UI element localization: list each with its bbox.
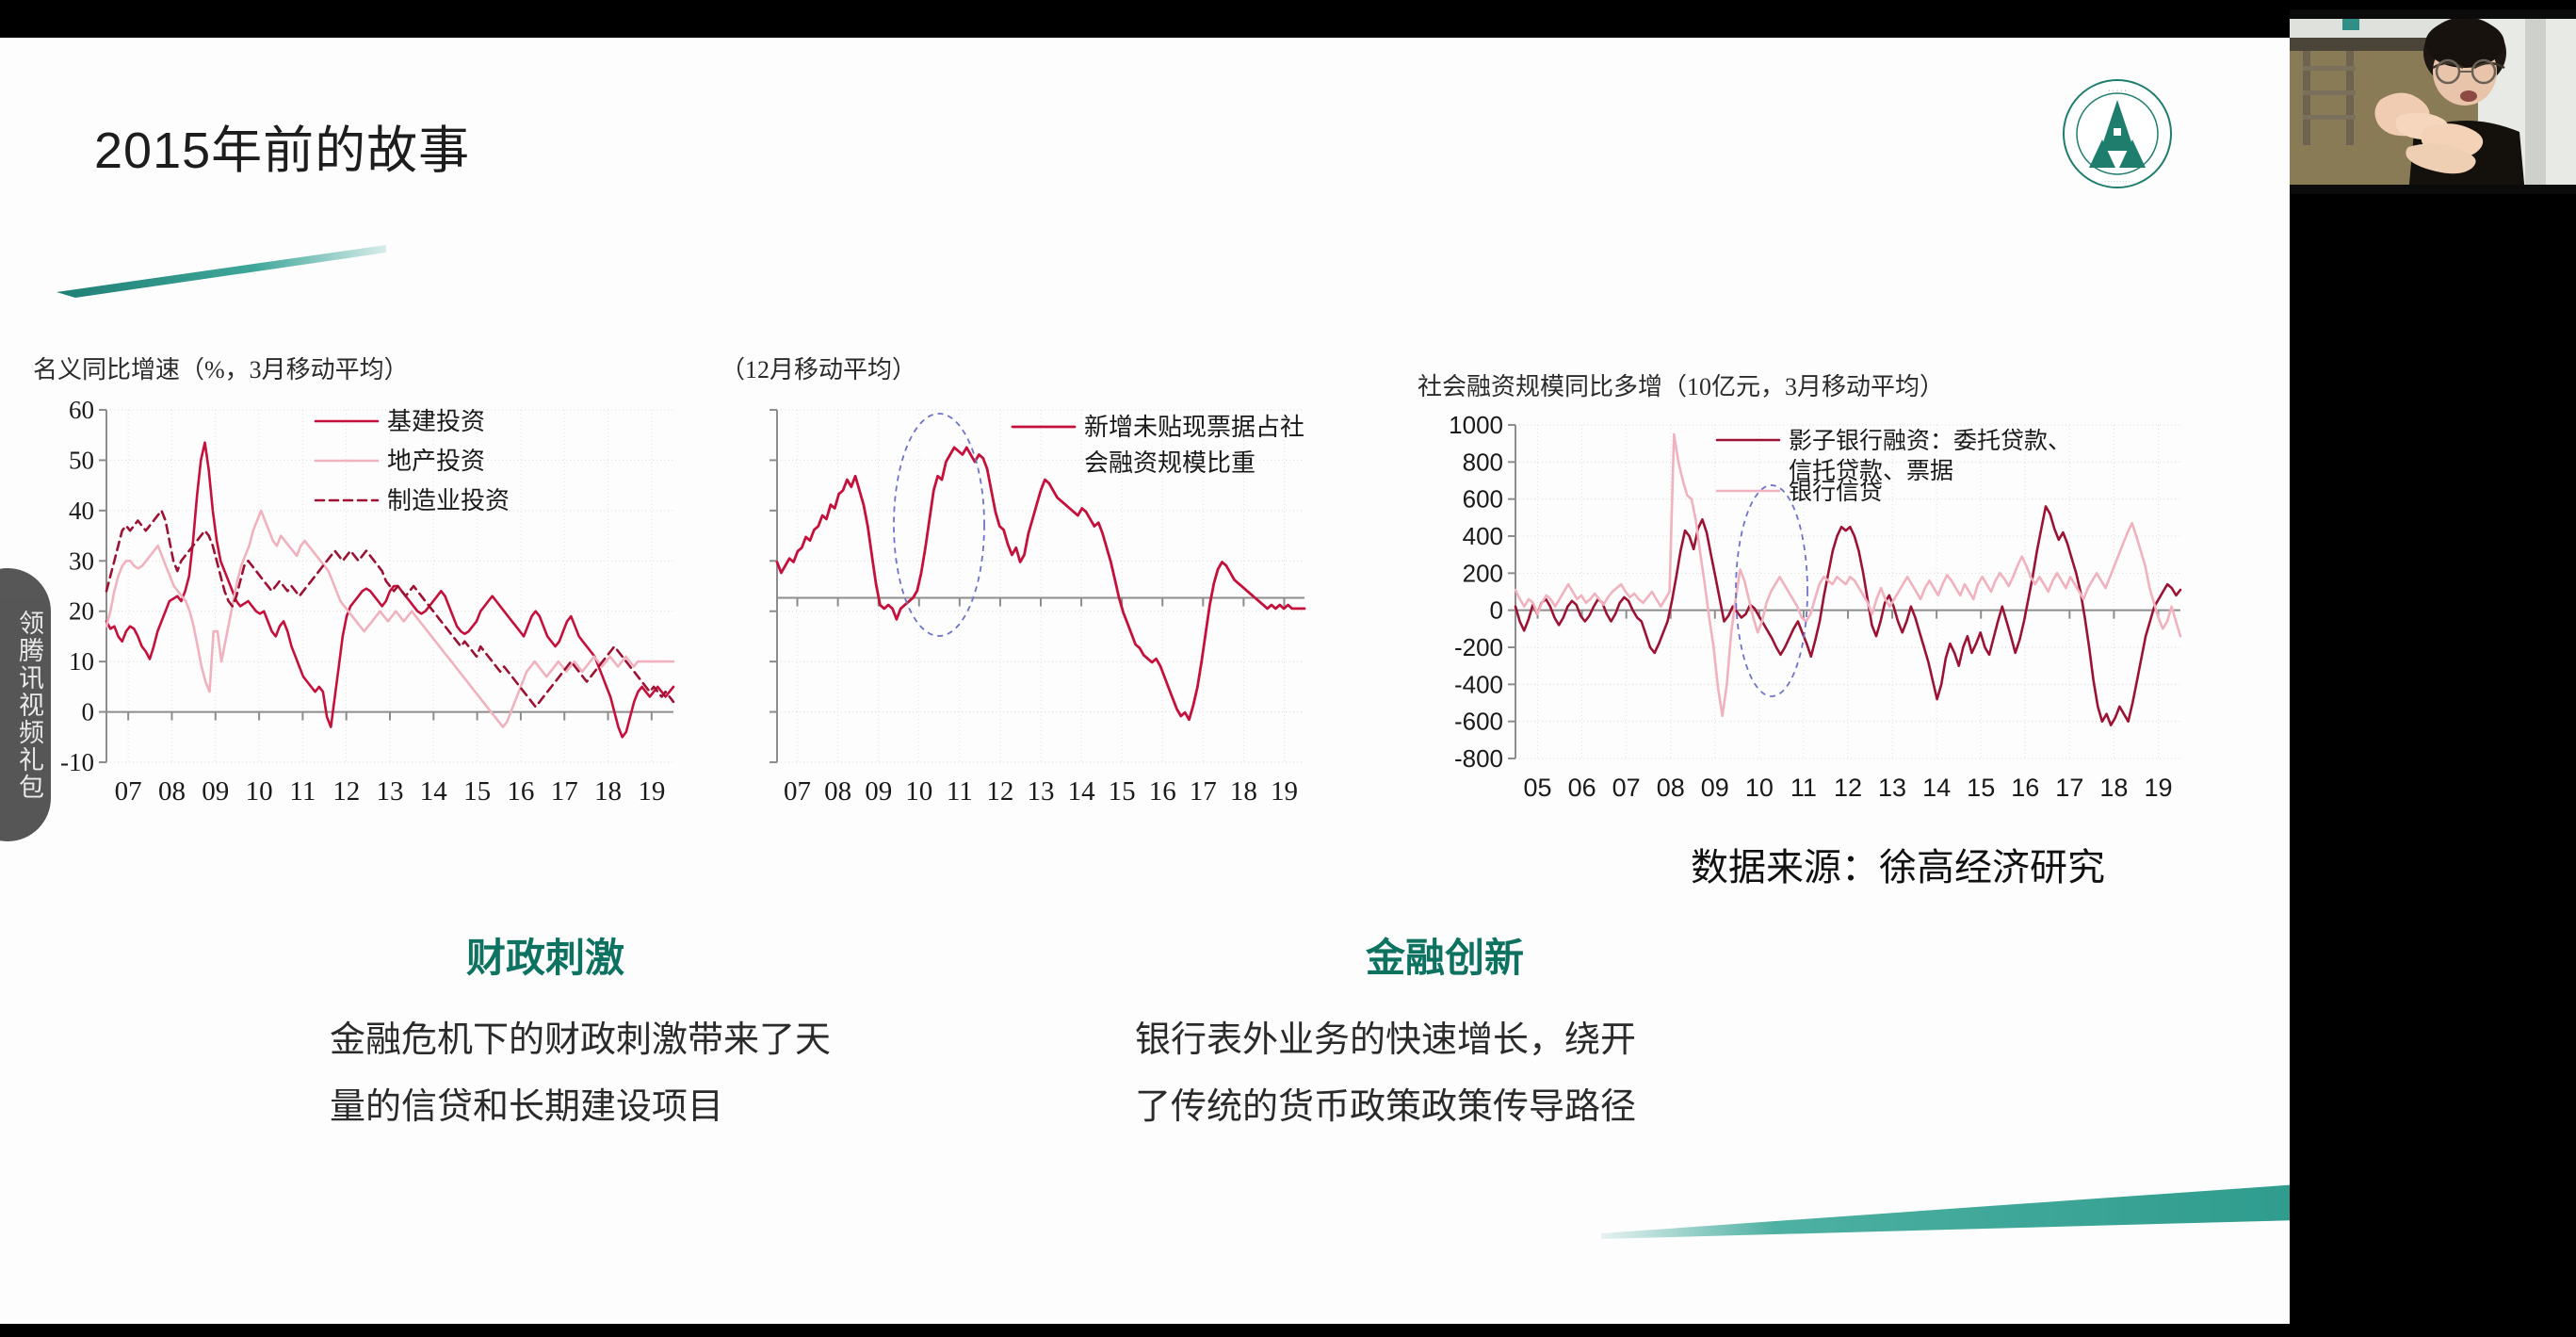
svg-text:16: 16: [2011, 774, 2039, 802]
chart3-plot: 10008006004002000-200-400-600-8000506070…: [1418, 402, 2199, 845]
svg-text:17: 17: [551, 776, 578, 807]
chart2-title: （12月移动平均）: [721, 351, 1323, 385]
column-body-line: 金融危机下的财政刺激带来了天: [330, 1018, 1064, 1064]
svg-text:12: 12: [1834, 774, 1862, 802]
svg-text:14: 14: [420, 776, 448, 807]
svg-text:17: 17: [2055, 774, 2083, 802]
svg-text:0: 0: [1490, 596, 1503, 625]
page-title: 2015年前的故事: [94, 108, 470, 183]
chart-investment-growth: 名义同比增速（%，3月移动平均） 6050403020100-100708091…: [33, 351, 692, 856]
svg-text:0: 0: [82, 698, 95, 726]
svg-text:15: 15: [463, 776, 491, 807]
column-heading-fiscal-stimulus: 财政刺激: [466, 926, 624, 984]
svg-text:09: 09: [202, 776, 229, 807]
svg-text:12: 12: [986, 776, 1013, 807]
svg-text:19: 19: [638, 776, 665, 807]
svg-text:基建投资: 基建投资: [387, 408, 485, 435]
svg-text:17: 17: [1190, 776, 1217, 807]
column-heading-financial-innovation: 金融创新: [1366, 926, 1524, 984]
svg-text:19: 19: [1271, 776, 1298, 807]
svg-text:10: 10: [905, 776, 932, 807]
svg-text:13: 13: [1878, 774, 1906, 802]
svg-text:07: 07: [1612, 774, 1641, 802]
svg-text:· · · · · · · · ·: · · · · · · · · ·: [2105, 179, 2130, 185]
svg-text:15: 15: [1967, 774, 1995, 802]
svg-text:13: 13: [377, 776, 404, 807]
decorative-wedge-bottom-right: [1601, 1164, 2290, 1286]
presentation-slide: 2015年前的故事 · · · · · · · · · · · · · · 名义…: [0, 19, 2290, 1324]
column-body-line: 量的信贷和长期建设项目: [330, 1084, 1064, 1131]
svg-text:16: 16: [507, 776, 534, 807]
column-body-financial-innovation: 银行表外业务的快速增长，绕开 了传统的货币政策政策传导路径: [1135, 1018, 1870, 1152]
svg-text:11: 11: [1790, 774, 1817, 802]
svg-text:11: 11: [289, 776, 316, 807]
university-emblem-icon: · · · · · · · · · · · · · ·: [2061, 77, 2174, 190]
svg-text:-600: -600: [1454, 708, 1503, 736]
svg-text:07: 07: [115, 776, 142, 807]
svg-text:-200: -200: [1454, 633, 1503, 661]
svg-text:12: 12: [332, 776, 360, 807]
svg-text:800: 800: [1463, 448, 1503, 476]
svg-text:19: 19: [2144, 774, 2172, 802]
svg-text:制造业投资: 制造业投资: [387, 487, 510, 514]
column-body-line: 银行表外业务的快速增长，绕开: [1135, 1018, 1870, 1064]
svg-text:-10: -10: [60, 748, 94, 776]
chart3-title: 社会融资规模同比多增（10亿元，3月移动平均）: [1418, 367, 2199, 402]
svg-text:18: 18: [594, 776, 622, 807]
data-source-note: 数据来源：徐高经济研究: [1691, 837, 2105, 891]
svg-text:09: 09: [1701, 774, 1729, 802]
decorative-wedge-top-left: [57, 243, 386, 300]
svg-text:200: 200: [1463, 559, 1503, 587]
column-body-fiscal-stimulus: 金融危机下的财政刺激带来了天 量的信贷和长期建设项目: [330, 1018, 1064, 1152]
chart-tsf-yoy-increase: 社会融资规模同比多增（10亿元，3月移动平均） 1000800600400200…: [1418, 367, 2199, 845]
webcam-video-panel[interactable]: [2290, 9, 2576, 194]
svg-text:08: 08: [158, 776, 186, 807]
svg-text:14: 14: [1922, 774, 1951, 802]
svg-text:1000: 1000: [1449, 411, 1503, 439]
svg-text:400: 400: [1463, 522, 1503, 550]
svg-text:08: 08: [824, 776, 851, 807]
svg-text:13: 13: [1028, 776, 1055, 807]
svg-text:09: 09: [865, 776, 892, 807]
svg-text:-800: -800: [1454, 744, 1503, 773]
top-letterbox-bar: [0, 19, 2290, 38]
svg-text:10: 10: [1745, 774, 1774, 802]
svg-text:08: 08: [1657, 774, 1685, 802]
svg-text:11: 11: [947, 776, 973, 807]
svg-text:会融资规模比重: 会融资规模比重: [1084, 449, 1256, 477]
svg-text:50: 50: [69, 446, 94, 474]
svg-text:18: 18: [2099, 774, 2128, 802]
svg-text:40: 40: [69, 497, 94, 525]
promo-pill-label: 领腾讯视频礼包: [16, 610, 51, 801]
svg-text:16: 16: [1149, 776, 1176, 807]
svg-text:-400: -400: [1454, 670, 1503, 698]
chart1-title: 名义同比增速（%，3月移动平均）: [33, 351, 692, 385]
right-black-panel: [2290, 0, 2576, 1337]
svg-text:20: 20: [69, 597, 94, 626]
svg-text:新增未贴现票据占社: 新增未贴现票据占社: [1084, 414, 1304, 441]
svg-text:18: 18: [1230, 776, 1257, 807]
svg-text:14: 14: [1068, 776, 1096, 807]
svg-text:06: 06: [1568, 774, 1596, 802]
promo-pill-overlay[interactable]: 领腾讯视频礼包: [0, 568, 51, 841]
svg-text:07: 07: [784, 776, 811, 807]
svg-text:60: 60: [69, 396, 94, 424]
svg-text:30: 30: [69, 546, 94, 575]
screen-recording-frame: 2015年前的故事 · · · · · · · · · · · · · · 名义…: [0, 0, 2576, 1337]
svg-text:地产投资: 地产投资: [387, 448, 485, 475]
svg-text:10: 10: [69, 647, 94, 676]
chart-undiscounted-bills-share: （12月移动平均） 07080910111213141516171819新增未贴…: [721, 351, 1323, 856]
svg-text:影子银行融资：委托贷款、: 影子银行融资：委托贷款、: [1789, 428, 2071, 454]
svg-text:600: 600: [1463, 485, 1503, 514]
svg-text:· · · · ·: · · · · ·: [2108, 88, 2126, 94]
chart1-plot: 6050403020100-10070809101112131415161718…: [33, 385, 692, 856]
svg-text:15: 15: [1109, 776, 1136, 807]
column-body-line: 了传统的货币政策政策传导路径: [1135, 1084, 1870, 1131]
svg-text:银行信贷: 银行信贷: [1789, 479, 1883, 505]
svg-text:05: 05: [1524, 774, 1552, 802]
svg-text:10: 10: [246, 776, 273, 807]
chart2-plot: 07080910111213141516171819新增未贴现票据占社会融资规模…: [721, 385, 1323, 856]
webcam-frame: [2290, 9, 2576, 194]
